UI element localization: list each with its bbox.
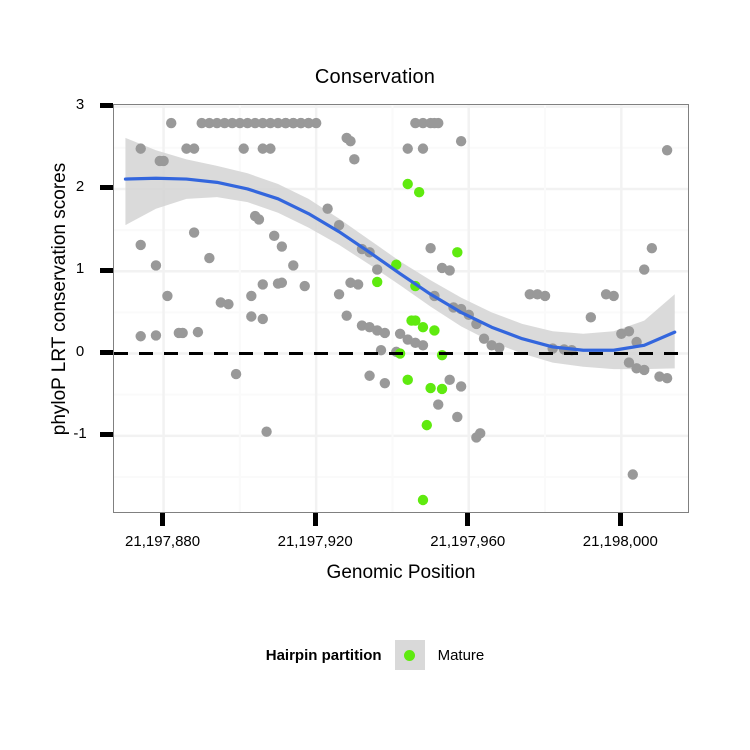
legend-title: Hairpin partition	[266, 647, 382, 664]
data-point[interactable]	[136, 240, 146, 250]
data-point[interactable]	[258, 314, 268, 324]
data-point[interactable]	[300, 281, 310, 291]
data-point[interactable]	[277, 241, 287, 251]
data-point[interactable]	[403, 143, 413, 153]
data-point[interactable]	[136, 331, 146, 341]
y-tick-label: 3	[65, 96, 95, 113]
data-point[interactable]	[322, 203, 332, 213]
data-point[interactable]	[162, 291, 172, 301]
data-point[interactable]	[303, 118, 313, 128]
data-point[interactable]	[372, 277, 382, 287]
chart-figure: Conservation phyloP LRT conservation sco…	[0, 0, 750, 750]
data-point[interactable]	[639, 365, 649, 375]
y-tick-mark	[100, 432, 113, 437]
x-tick-label: 21,197,920	[250, 533, 380, 550]
data-point[interactable]	[433, 118, 443, 128]
x-tick-mark	[160, 513, 165, 526]
y-tick-mark	[100, 185, 113, 190]
data-point[interactable]	[437, 384, 447, 394]
data-point[interactable]	[452, 412, 462, 422]
data-point[interactable]	[456, 136, 466, 146]
x-tick-mark	[465, 513, 470, 526]
data-point[interactable]	[639, 264, 649, 274]
data-point[interactable]	[471, 432, 481, 442]
x-tick-mark	[618, 513, 623, 526]
legend-key-mature[interactable]	[395, 640, 425, 670]
legend-label-mature: Mature	[438, 647, 485, 664]
data-point[interactable]	[372, 264, 382, 274]
data-point[interactable]	[403, 179, 413, 189]
y-tick-mark	[100, 268, 113, 273]
y-tick-label: 2	[65, 178, 95, 195]
data-point[interactable]	[204, 253, 214, 263]
y-tick-label: 1	[65, 260, 95, 277]
data-point[interactable]	[628, 469, 638, 479]
data-point[interactable]	[418, 340, 428, 350]
data-point[interactable]	[158, 156, 168, 166]
data-point[interactable]	[136, 143, 146, 153]
data-point[interactable]	[288, 260, 298, 270]
x-tick-label: 21,198,000	[555, 533, 685, 550]
y-tick-label: 0	[65, 343, 95, 360]
data-point[interactable]	[189, 143, 199, 153]
data-point[interactable]	[231, 369, 241, 379]
data-point[interactable]	[433, 399, 443, 409]
data-point[interactable]	[189, 227, 199, 237]
x-tick-mark	[313, 513, 318, 526]
data-point[interactable]	[345, 136, 355, 146]
data-point[interactable]	[425, 383, 435, 393]
data-point[interactable]	[151, 260, 161, 270]
data-point[interactable]	[334, 289, 344, 299]
data-point[interactable]	[223, 299, 233, 309]
data-point[interactable]	[444, 375, 454, 385]
y-tick-mark	[100, 350, 113, 355]
data-point[interactable]	[403, 375, 413, 385]
data-point[interactable]	[166, 118, 176, 128]
data-point[interactable]	[151, 330, 161, 340]
data-point[interactable]	[418, 322, 428, 332]
data-point[interactable]	[425, 243, 435, 253]
data-point[interactable]	[609, 291, 619, 301]
data-point[interactable]	[193, 327, 203, 337]
data-point[interactable]	[456, 381, 466, 391]
data-point[interactable]	[265, 143, 275, 153]
legend: Hairpin partition Mature	[0, 640, 750, 670]
plot-panel	[113, 104, 689, 513]
y-tick-label: -1	[65, 425, 95, 442]
page-title: Conservation	[0, 66, 750, 89]
data-point[interactable]	[662, 373, 672, 383]
legend-dot-icon	[404, 650, 415, 661]
data-point[interactable]	[662, 145, 672, 155]
data-point[interactable]	[624, 326, 634, 336]
data-point[interactable]	[437, 350, 447, 360]
data-point[interactable]	[261, 427, 271, 437]
y-axis-title: phyloP LRT conservation scores	[49, 89, 71, 509]
data-point[interactable]	[418, 143, 428, 153]
x-tick-label: 21,197,880	[98, 533, 228, 550]
y-tick-mark	[100, 103, 113, 108]
x-axis-title: Genomic Position	[113, 562, 689, 584]
data-point[interactable]	[494, 343, 504, 353]
data-point[interactable]	[341, 310, 351, 320]
data-point[interactable]	[586, 312, 596, 322]
data-point[interactable]	[380, 378, 390, 388]
data-point[interactable]	[353, 279, 363, 289]
data-point[interactable]	[277, 278, 287, 288]
data-point[interactable]	[452, 247, 462, 257]
data-point[interactable]	[647, 243, 657, 253]
data-point[interactable]	[349, 154, 359, 164]
data-point[interactable]	[238, 143, 248, 153]
data-point[interactable]	[418, 495, 428, 505]
data-point[interactable]	[364, 371, 374, 381]
data-point[interactable]	[269, 231, 279, 241]
data-point[interactable]	[254, 214, 264, 224]
data-point[interactable]	[444, 265, 454, 275]
data-point[interactable]	[422, 420, 432, 430]
data-point[interactable]	[246, 311, 256, 321]
data-point[interactable]	[177, 328, 187, 338]
plot-canvas	[114, 105, 689, 513]
data-point[interactable]	[429, 325, 439, 335]
data-point[interactable]	[414, 187, 424, 197]
data-point[interactable]	[246, 291, 256, 301]
data-point[interactable]	[258, 279, 268, 289]
x-tick-label: 21,197,960	[403, 533, 533, 550]
data-point[interactable]	[380, 328, 390, 338]
data-point[interactable]	[540, 291, 550, 301]
